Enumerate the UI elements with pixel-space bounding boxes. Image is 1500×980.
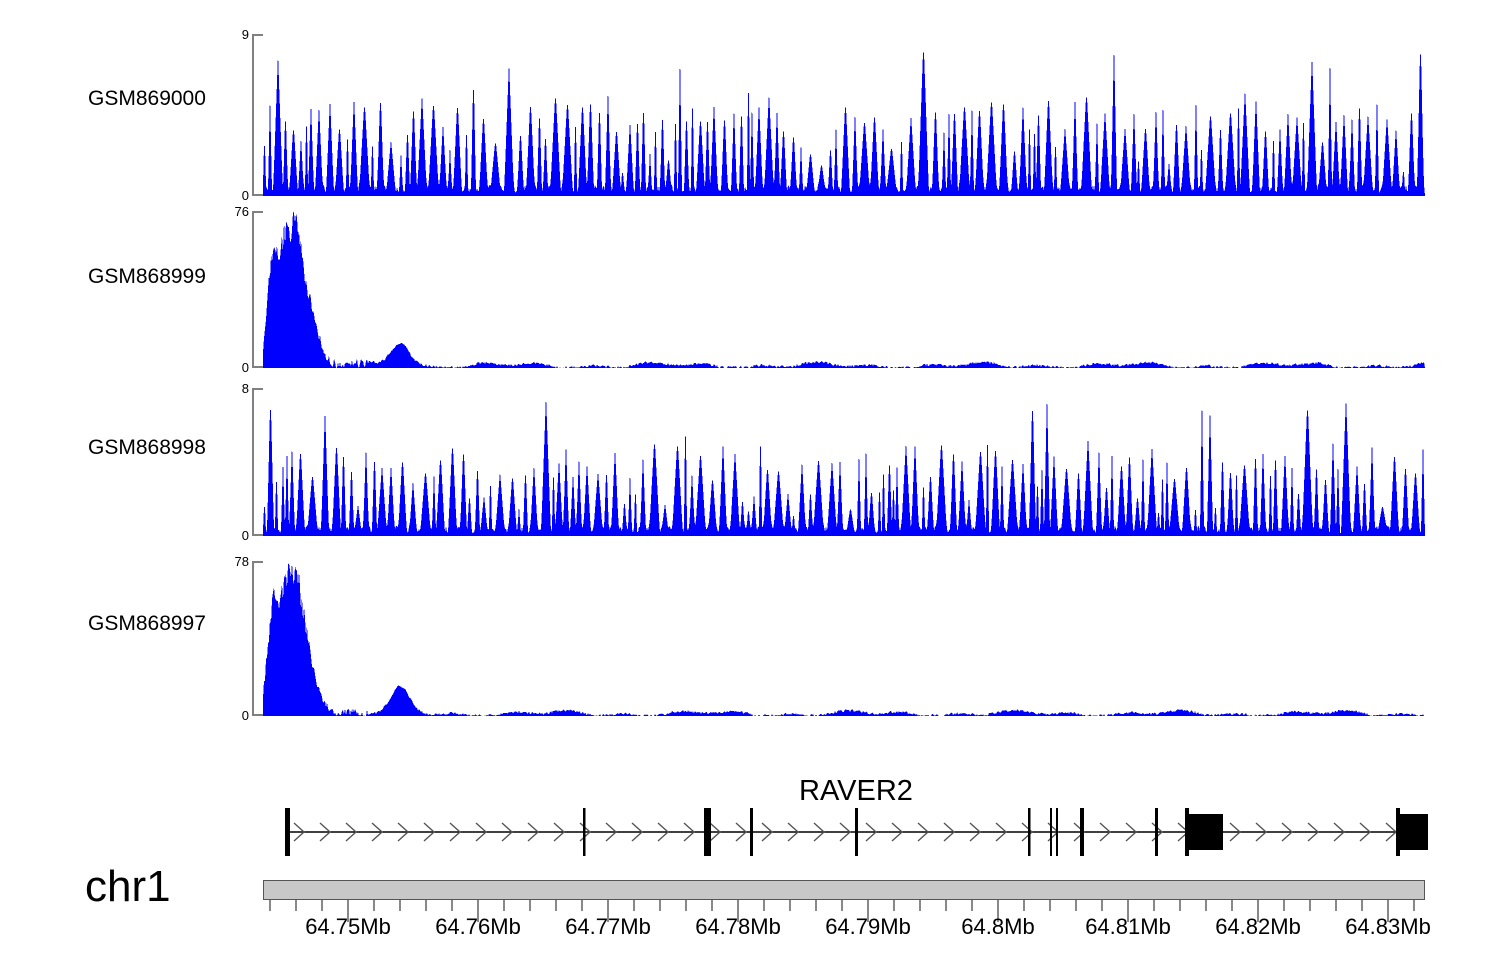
axis-line: [252, 34, 254, 196]
axis-line: [252, 211, 254, 368]
track-3-axis: 8 0: [252, 388, 263, 536]
axis-tick-top: [252, 211, 263, 213]
track-3-axis-min: 0: [242, 529, 249, 542]
ruler-tick-label: 64.79Mb: [808, 914, 928, 940]
axis-line: [252, 388, 254, 536]
axis-line: [252, 561, 254, 716]
ruler-tick-label: 64.83Mb: [1328, 914, 1448, 940]
track-4-axis-min: 0: [242, 709, 249, 722]
axis-tick-bottom: [252, 714, 263, 716]
track-4-axis-max: 78: [235, 555, 249, 568]
axis-tick-top: [252, 34, 263, 36]
gene-name-label: RAVER2: [706, 775, 1006, 808]
ruler-tick-label: 64.78Mb: [678, 914, 798, 940]
axis-tick-top: [252, 561, 263, 563]
axis-tick-bottom: [252, 194, 263, 196]
track-2-signal: [263, 211, 1425, 368]
ruler-tick-label: 64.81Mb: [1068, 914, 1188, 940]
ruler-tick-label: 64.82Mb: [1198, 914, 1318, 940]
track-1-axis-max: 9: [242, 28, 249, 41]
axis-tick-bottom: [252, 534, 263, 536]
track-4-axis: 78 0: [252, 561, 263, 716]
ruler-tick-label: 64.76Mb: [418, 914, 538, 940]
track-3-axis-max: 8: [242, 382, 249, 395]
axis-tick-top: [252, 388, 263, 390]
ruler-tick-label: 64.77Mb: [548, 914, 668, 940]
track-2-axis: 76 0: [252, 211, 263, 368]
track-4-signal: [263, 561, 1425, 716]
track-2-axis-min: 0: [242, 361, 249, 374]
genome-ruler-bar[interactable]: [263, 880, 1425, 900]
axis-tick-bottom: [252, 366, 263, 368]
genome-browser: GSM869000 9 0 GSM868999 76 0 GSM868998 8: [0, 0, 1500, 980]
track-2-axis-max: 76: [235, 205, 249, 218]
ruler-tick-label: 64.8Mb: [938, 914, 1058, 940]
track-1-axis: 9 0: [252, 34, 263, 196]
track-3-signal: [263, 388, 1425, 536]
track-1-axis-min: 0: [242, 189, 249, 202]
ruler-tick-label: 64.75Mb: [288, 914, 408, 940]
track-1-signal: [263, 34, 1425, 196]
